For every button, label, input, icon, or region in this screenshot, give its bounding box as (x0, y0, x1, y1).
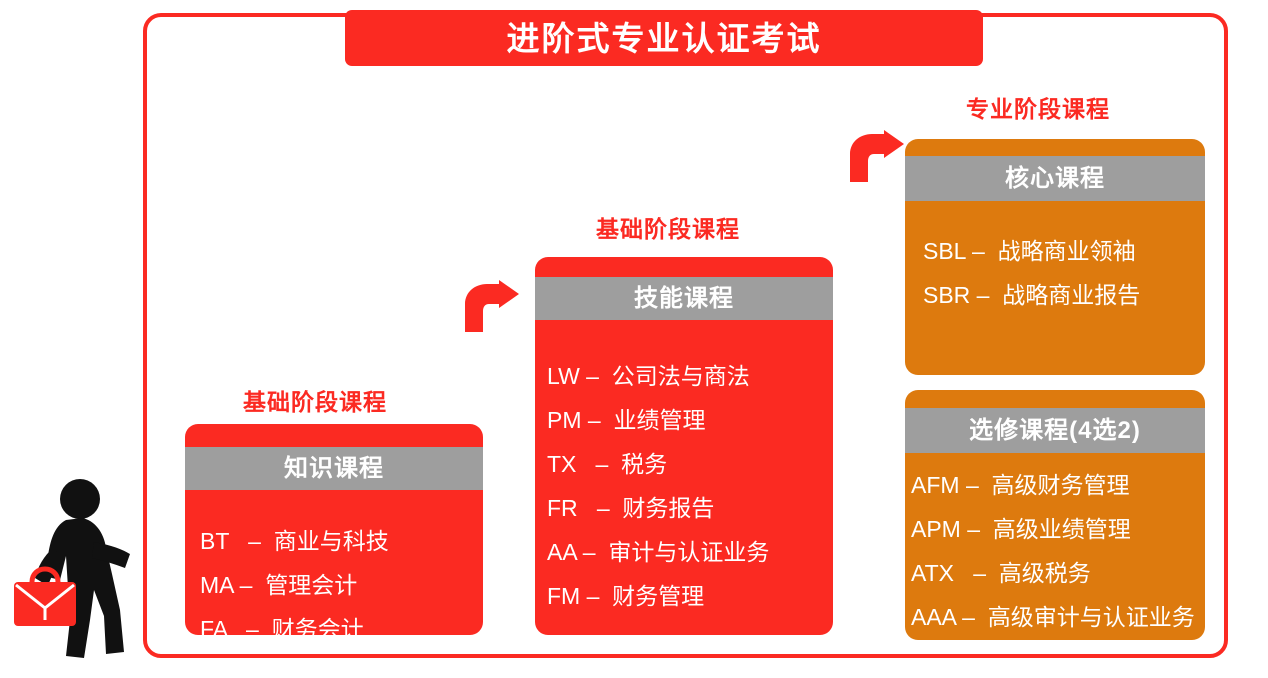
card-header-electives: 选修课程(4选2) (905, 408, 1205, 453)
course-item: LW – 公司法与商法 (547, 365, 750, 388)
card-core-module[interactable]: 核心课程 SBL – 战略商业领袖 SBR – 战略商业报告 (905, 139, 1205, 375)
elbow-arrow-up-right-icon-2 (848, 130, 904, 182)
card-skills-module[interactable]: 技能课程 LW – 公司法与商法 PM – 业绩管理 TX – 税务 FR – … (535, 257, 833, 635)
course-item: AAA – 高级审计与认证业务 (911, 606, 1195, 629)
stage-label-skills: 基础阶段课程 (596, 210, 740, 244)
card-header-label: 选修课程(4选2) (969, 419, 1141, 443)
card-header-skills: 技能课程 (535, 277, 833, 320)
card-body-electives: AFM – 高级财务管理 APM – 高级业绩管理 ATX – 高级税务 AAA… (905, 453, 1205, 640)
page-title: 进阶式专业认证考试 (507, 22, 822, 55)
card-header-label: 知识课程 (284, 457, 384, 481)
course-item: SBR – 战略商业报告 (923, 284, 1140, 307)
course-item: PM – 业绩管理 (547, 409, 705, 432)
course-item: BT – 商业与科技 (200, 530, 389, 553)
course-item: FR – 财务报告 (547, 497, 714, 520)
card-body-knowledge: BT – 商业与科技 MA – 管理会计 FA – 财务会计 (185, 490, 483, 635)
title-banner: 进阶式专业认证考试 (345, 10, 983, 66)
stage-label-professional: 专业阶段课程 (966, 90, 1110, 124)
card-header-core: 核心课程 (905, 156, 1205, 201)
elbow-arrow-up-right-icon-1 (463, 280, 519, 332)
card-elective-module[interactable]: 选修课程(4选2) AFM – 高级财务管理 APM – 高级业绩管理 ATX … (905, 390, 1205, 640)
walking-businessman-icon (8, 470, 148, 670)
course-item: FA – 财务会计 (200, 618, 364, 635)
course-item: SBL – 战略商业领袖 (923, 240, 1136, 263)
course-item: TX – 税务 (547, 453, 667, 476)
card-header-label: 技能课程 (634, 287, 734, 311)
course-item: ATX – 高级税务 (911, 562, 1091, 585)
card-body-skills: LW – 公司法与商法 PM – 业绩管理 TX – 税务 FR – 财务报告 … (535, 320, 833, 635)
course-item: APM – 高级业绩管理 (911, 518, 1131, 541)
card-header-knowledge: 知识课程 (185, 447, 483, 490)
course-item: AA – 审计与认证业务 (547, 541, 769, 564)
card-header-label: 核心课程 (1005, 167, 1105, 191)
course-item: MA – 管理会计 (200, 574, 357, 597)
card-body-core: SBL – 战略商业领袖 SBR – 战略商业报告 (905, 201, 1205, 375)
card-knowledge-module[interactable]: 知识课程 BT – 商业与科技 MA – 管理会计 FA – 财务会计 (185, 424, 483, 635)
course-item: AFM – 高级财务管理 (911, 474, 1130, 497)
course-item: FM – 财务管理 (547, 585, 704, 608)
stage-label-knowledge: 基础阶段课程 (243, 383, 387, 417)
